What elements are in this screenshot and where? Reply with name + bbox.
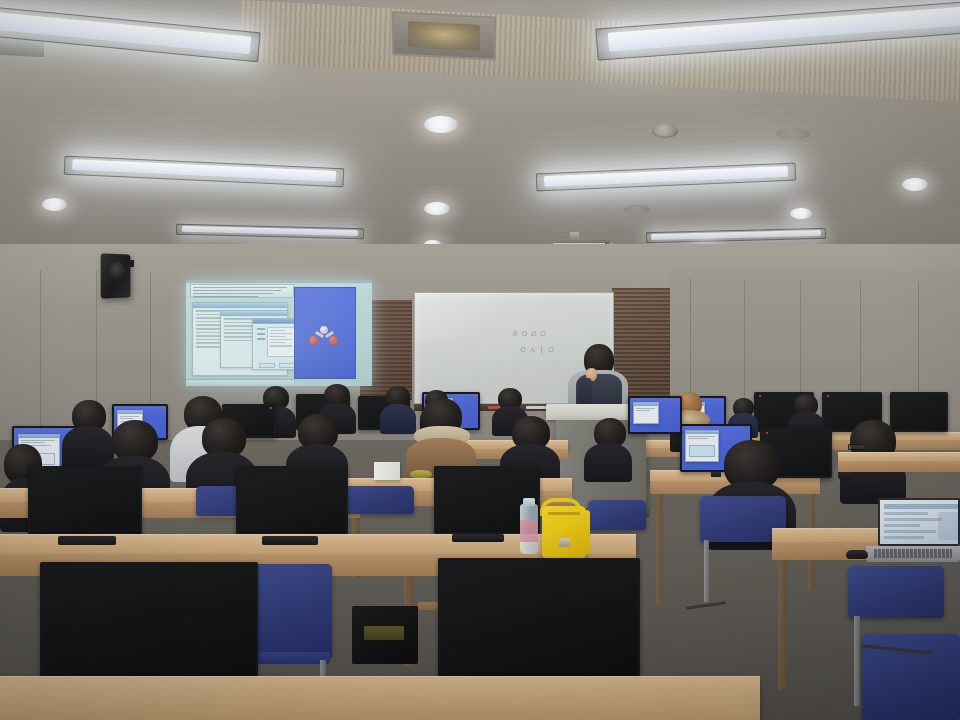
chair[interactable] bbox=[588, 500, 646, 530]
instructor bbox=[566, 344, 630, 412]
desk-foreground bbox=[0, 676, 760, 720]
desk-front-panel bbox=[838, 461, 960, 472]
desk bbox=[838, 452, 960, 461]
hvac-vent-icon bbox=[392, 11, 496, 60]
projection-screen bbox=[186, 280, 372, 386]
water-bottle bbox=[520, 504, 538, 554]
classroom-photo: ㅎㅇㄹㅇ ㅇㅅㅣㅇ bbox=[0, 0, 960, 720]
keyboard[interactable] bbox=[452, 534, 504, 542]
monitor[interactable]: SAMSUNG bbox=[28, 466, 142, 540]
student bbox=[584, 418, 632, 482]
chair-leg bbox=[854, 616, 860, 706]
chair[interactable] bbox=[246, 564, 332, 658]
monitor-foreground[interactable]: SAMSUNG bbox=[438, 558, 640, 688]
molecule-atom-oxygen bbox=[329, 336, 338, 345]
desk-leg bbox=[778, 560, 787, 690]
monitor[interactable]: SAMSUNG bbox=[236, 466, 348, 538]
wall-seam bbox=[860, 282, 861, 410]
wall-speaker-icon bbox=[101, 253, 131, 298]
backpack[interactable] bbox=[542, 506, 586, 560]
sprinkler-icon bbox=[624, 205, 650, 214]
downlight-icon bbox=[902, 178, 928, 191]
chair-seat bbox=[252, 652, 330, 664]
downlight-icon bbox=[790, 208, 812, 219]
marker bbox=[526, 406, 546, 409]
torso bbox=[584, 443, 632, 482]
mouse-icon[interactable] bbox=[846, 550, 868, 559]
bottle-cap bbox=[523, 498, 535, 506]
monitor[interactable] bbox=[628, 396, 682, 434]
screen-dialog bbox=[633, 402, 659, 424]
wall-seam bbox=[744, 280, 745, 416]
molecule-atom-carbon bbox=[320, 326, 328, 334]
bag-strap bbox=[582, 510, 590, 554]
desk-leg bbox=[656, 494, 663, 604]
whiteboard-text-line-1: ㅎㅇㄹㅇ bbox=[511, 327, 548, 340]
chair[interactable] bbox=[848, 566, 944, 618]
projected-molecule-viewer bbox=[294, 287, 356, 379]
projected-taskbar bbox=[186, 379, 294, 386]
cabinet-label bbox=[364, 626, 404, 640]
bag-buckle bbox=[559, 538, 570, 547]
tent-name-card bbox=[374, 462, 400, 480]
chair-leg bbox=[704, 540, 709, 602]
keyboard[interactable] bbox=[58, 536, 116, 545]
sprinkler-icon bbox=[776, 128, 810, 140]
bag-zipper bbox=[548, 512, 580, 515]
keyboard[interactable] bbox=[262, 536, 318, 545]
whiteboard-text-line-2: ㅇㅅㅣㅇ bbox=[519, 343, 556, 356]
banana bbox=[410, 470, 432, 478]
monitor-foreground[interactable]: SAMSUNG bbox=[40, 562, 258, 694]
wall-seam bbox=[918, 282, 919, 408]
downlight-icon bbox=[424, 202, 450, 215]
bottle-label bbox=[520, 520, 538, 542]
projected-menu-bar bbox=[190, 284, 294, 298]
laptop-screen[interactable] bbox=[878, 498, 960, 546]
downlight-icon bbox=[42, 198, 67, 211]
wall-seam bbox=[40, 270, 41, 440]
smoke-detector-icon bbox=[652, 124, 678, 138]
molecule-atom-oxygen bbox=[309, 336, 318, 345]
glasses-icon bbox=[848, 444, 866, 450]
downlight-icon bbox=[424, 116, 458, 133]
laptop-keyboard-base[interactable] bbox=[866, 546, 960, 562]
